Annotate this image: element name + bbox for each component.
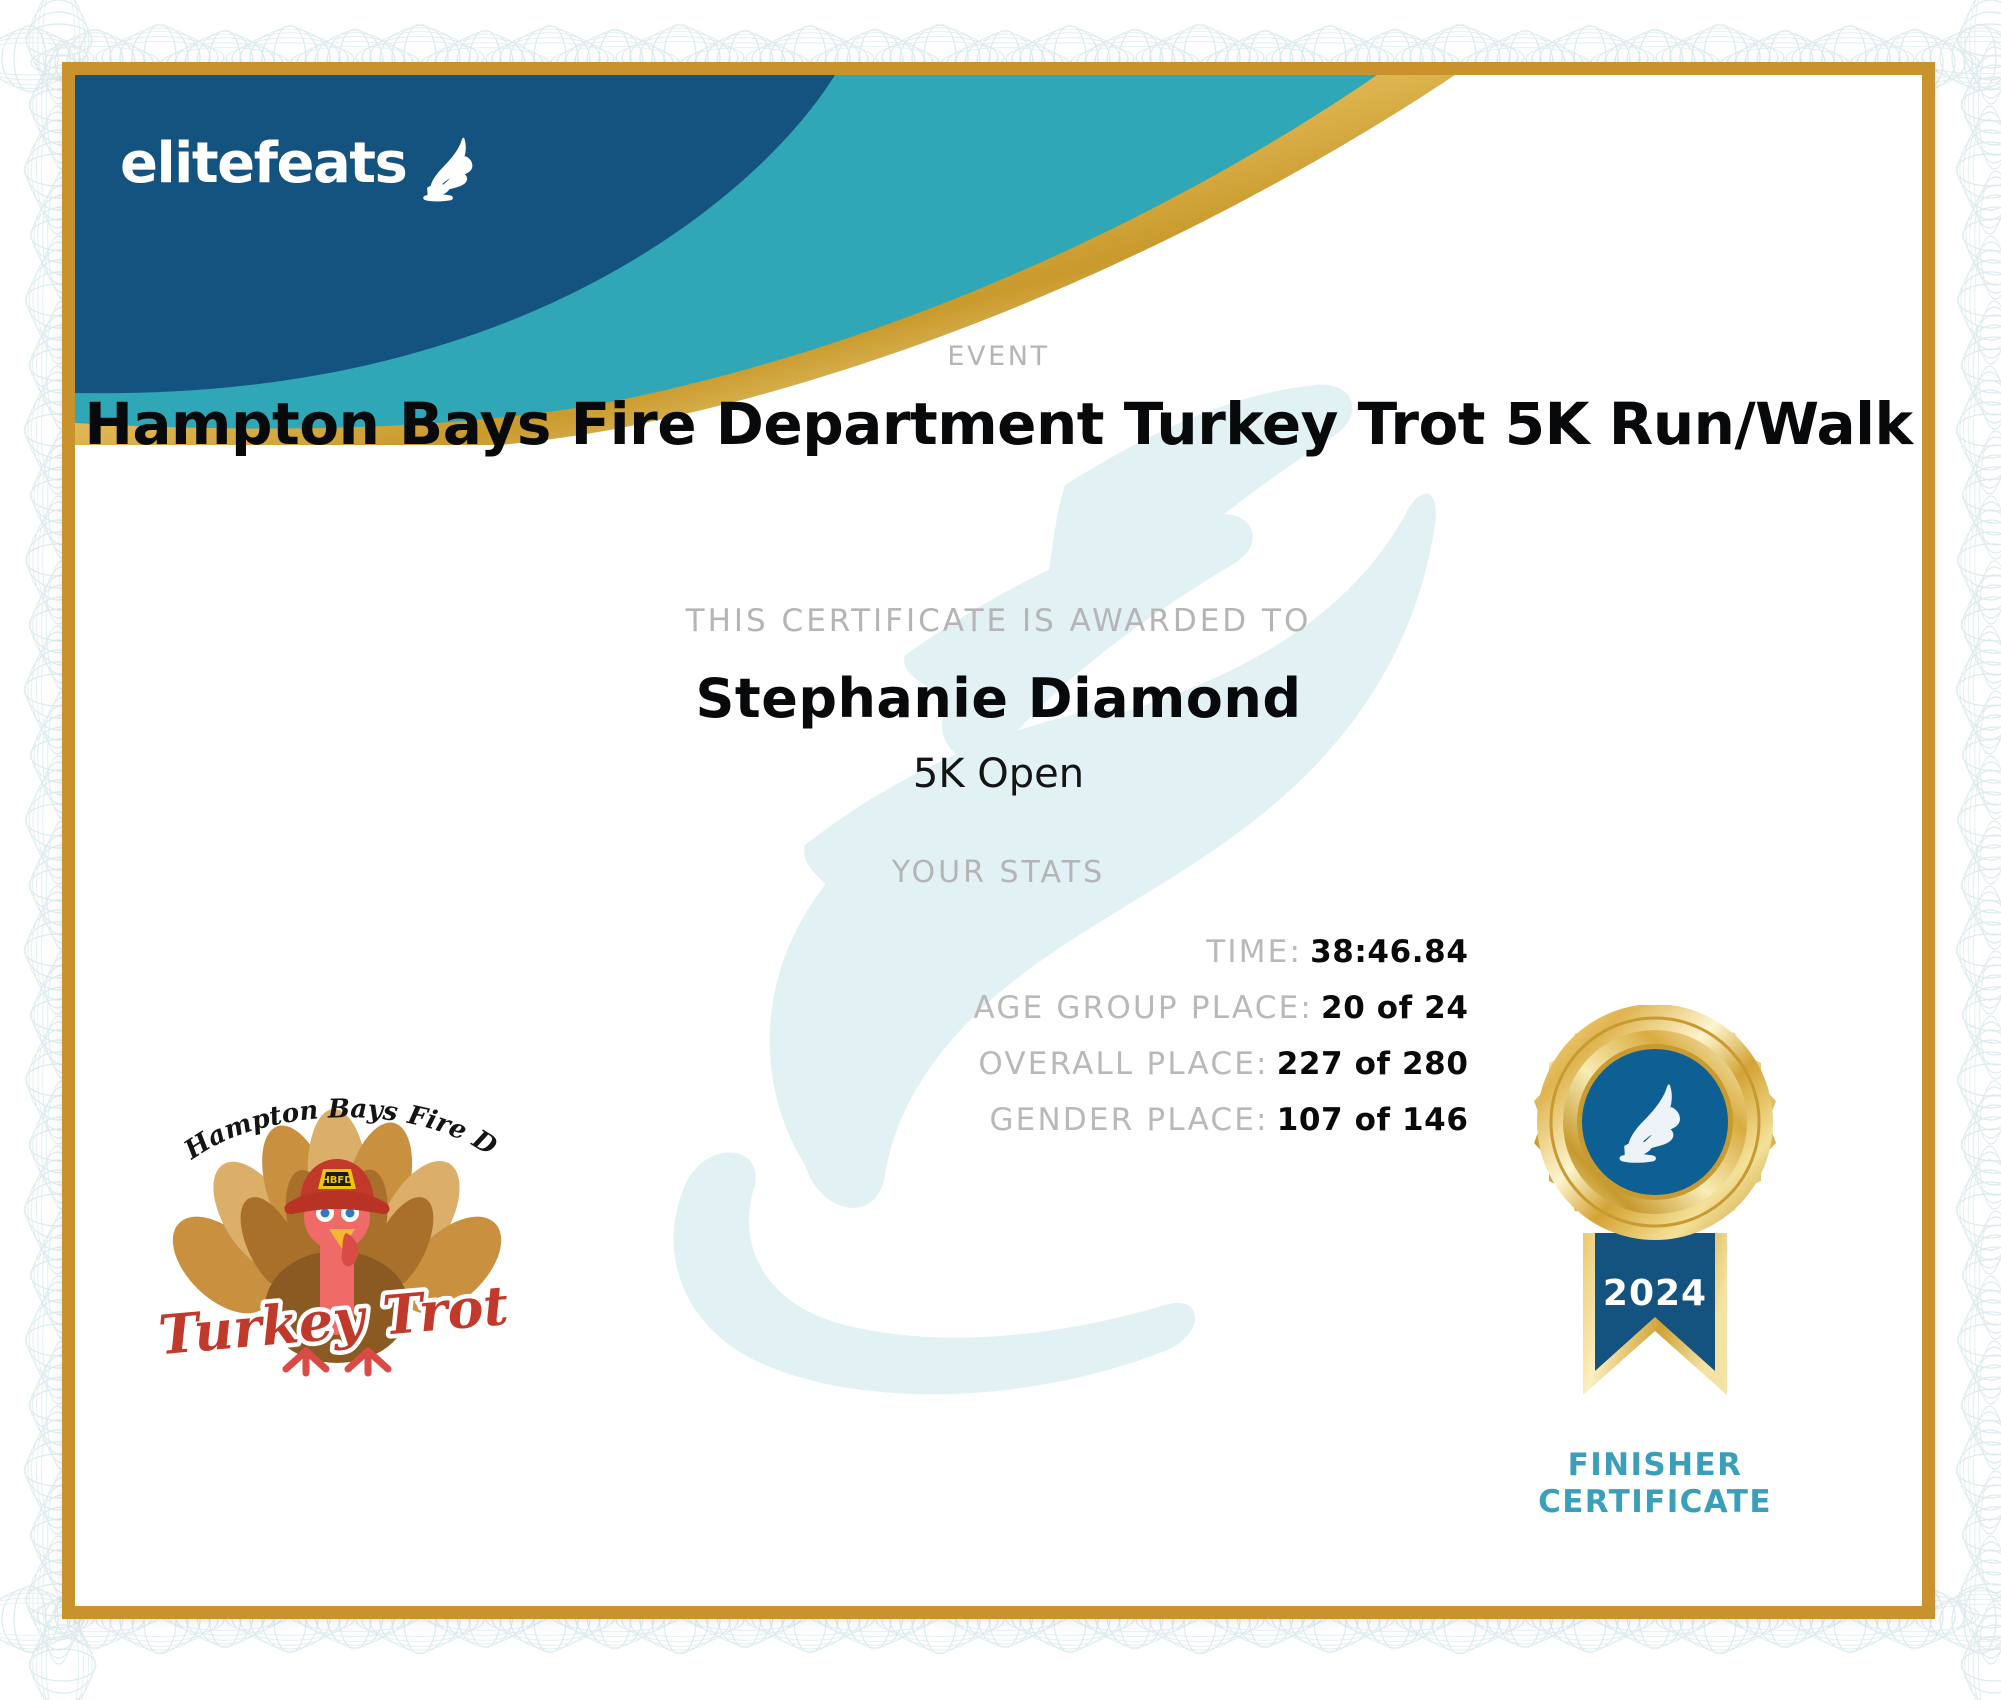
stat-row-time: TIME:38:46.84 xyxy=(75,930,1922,974)
finisher-medal-block: 2024 xyxy=(1460,1005,1850,1520)
stat-key: GENDER PLACE: xyxy=(989,1102,1268,1138)
finisher-medal-icon: 2024 xyxy=(1505,1005,1805,1445)
certificate-frame: elitefeats EVENT Hampton Bays Fire Depar… xyxy=(62,62,1935,1619)
svg-text:HBFD: HBFD xyxy=(321,1175,352,1186)
stat-key: AGE GROUP PLACE: xyxy=(974,990,1314,1026)
recipient-name: Stephanie Diamond xyxy=(75,667,1922,730)
finisher-caption-line-1: FINISHER xyxy=(1460,1447,1850,1484)
your-stats-label: YOUR STATS xyxy=(75,855,1922,890)
medal-year: 2024 xyxy=(1603,1273,1707,1314)
event-title: Hampton Bays Fire Department Turkey Trot… xyxy=(75,390,1922,458)
stat-value: 20 of 24 xyxy=(1321,990,1468,1026)
certificate-canvas: elitefeats EVENT Hampton Bays Fire Depar… xyxy=(75,75,1922,1606)
finisher-caption: FINISHER CERTIFICATE xyxy=(1460,1447,1850,1520)
certificate-content: EVENT Hampton Bays Fire Department Turke… xyxy=(75,75,1922,1606)
stat-value: 227 of 280 xyxy=(1277,1046,1469,1082)
turkey-trot-logo-icon: HBFD Hampton BaysFire Dept. Turkey Trot … xyxy=(160,1077,510,1377)
stat-key: TIME: xyxy=(1206,934,1302,970)
stat-value: 38:46.84 xyxy=(1310,934,1468,970)
event-label: EVENT xyxy=(75,341,1922,372)
stat-key: OVERALL PLACE: xyxy=(978,1046,1268,1082)
division-label: 5K Open xyxy=(75,751,1922,797)
certificate-page: elitefeats EVENT Hampton Bays Fire Depar… xyxy=(0,0,2001,1700)
finisher-caption-line-2: CERTIFICATE xyxy=(1460,1484,1850,1521)
stat-value: 107 of 146 xyxy=(1277,1102,1469,1138)
awarded-to-label: THIS CERTIFICATE IS AWARDED TO xyxy=(75,603,1922,639)
